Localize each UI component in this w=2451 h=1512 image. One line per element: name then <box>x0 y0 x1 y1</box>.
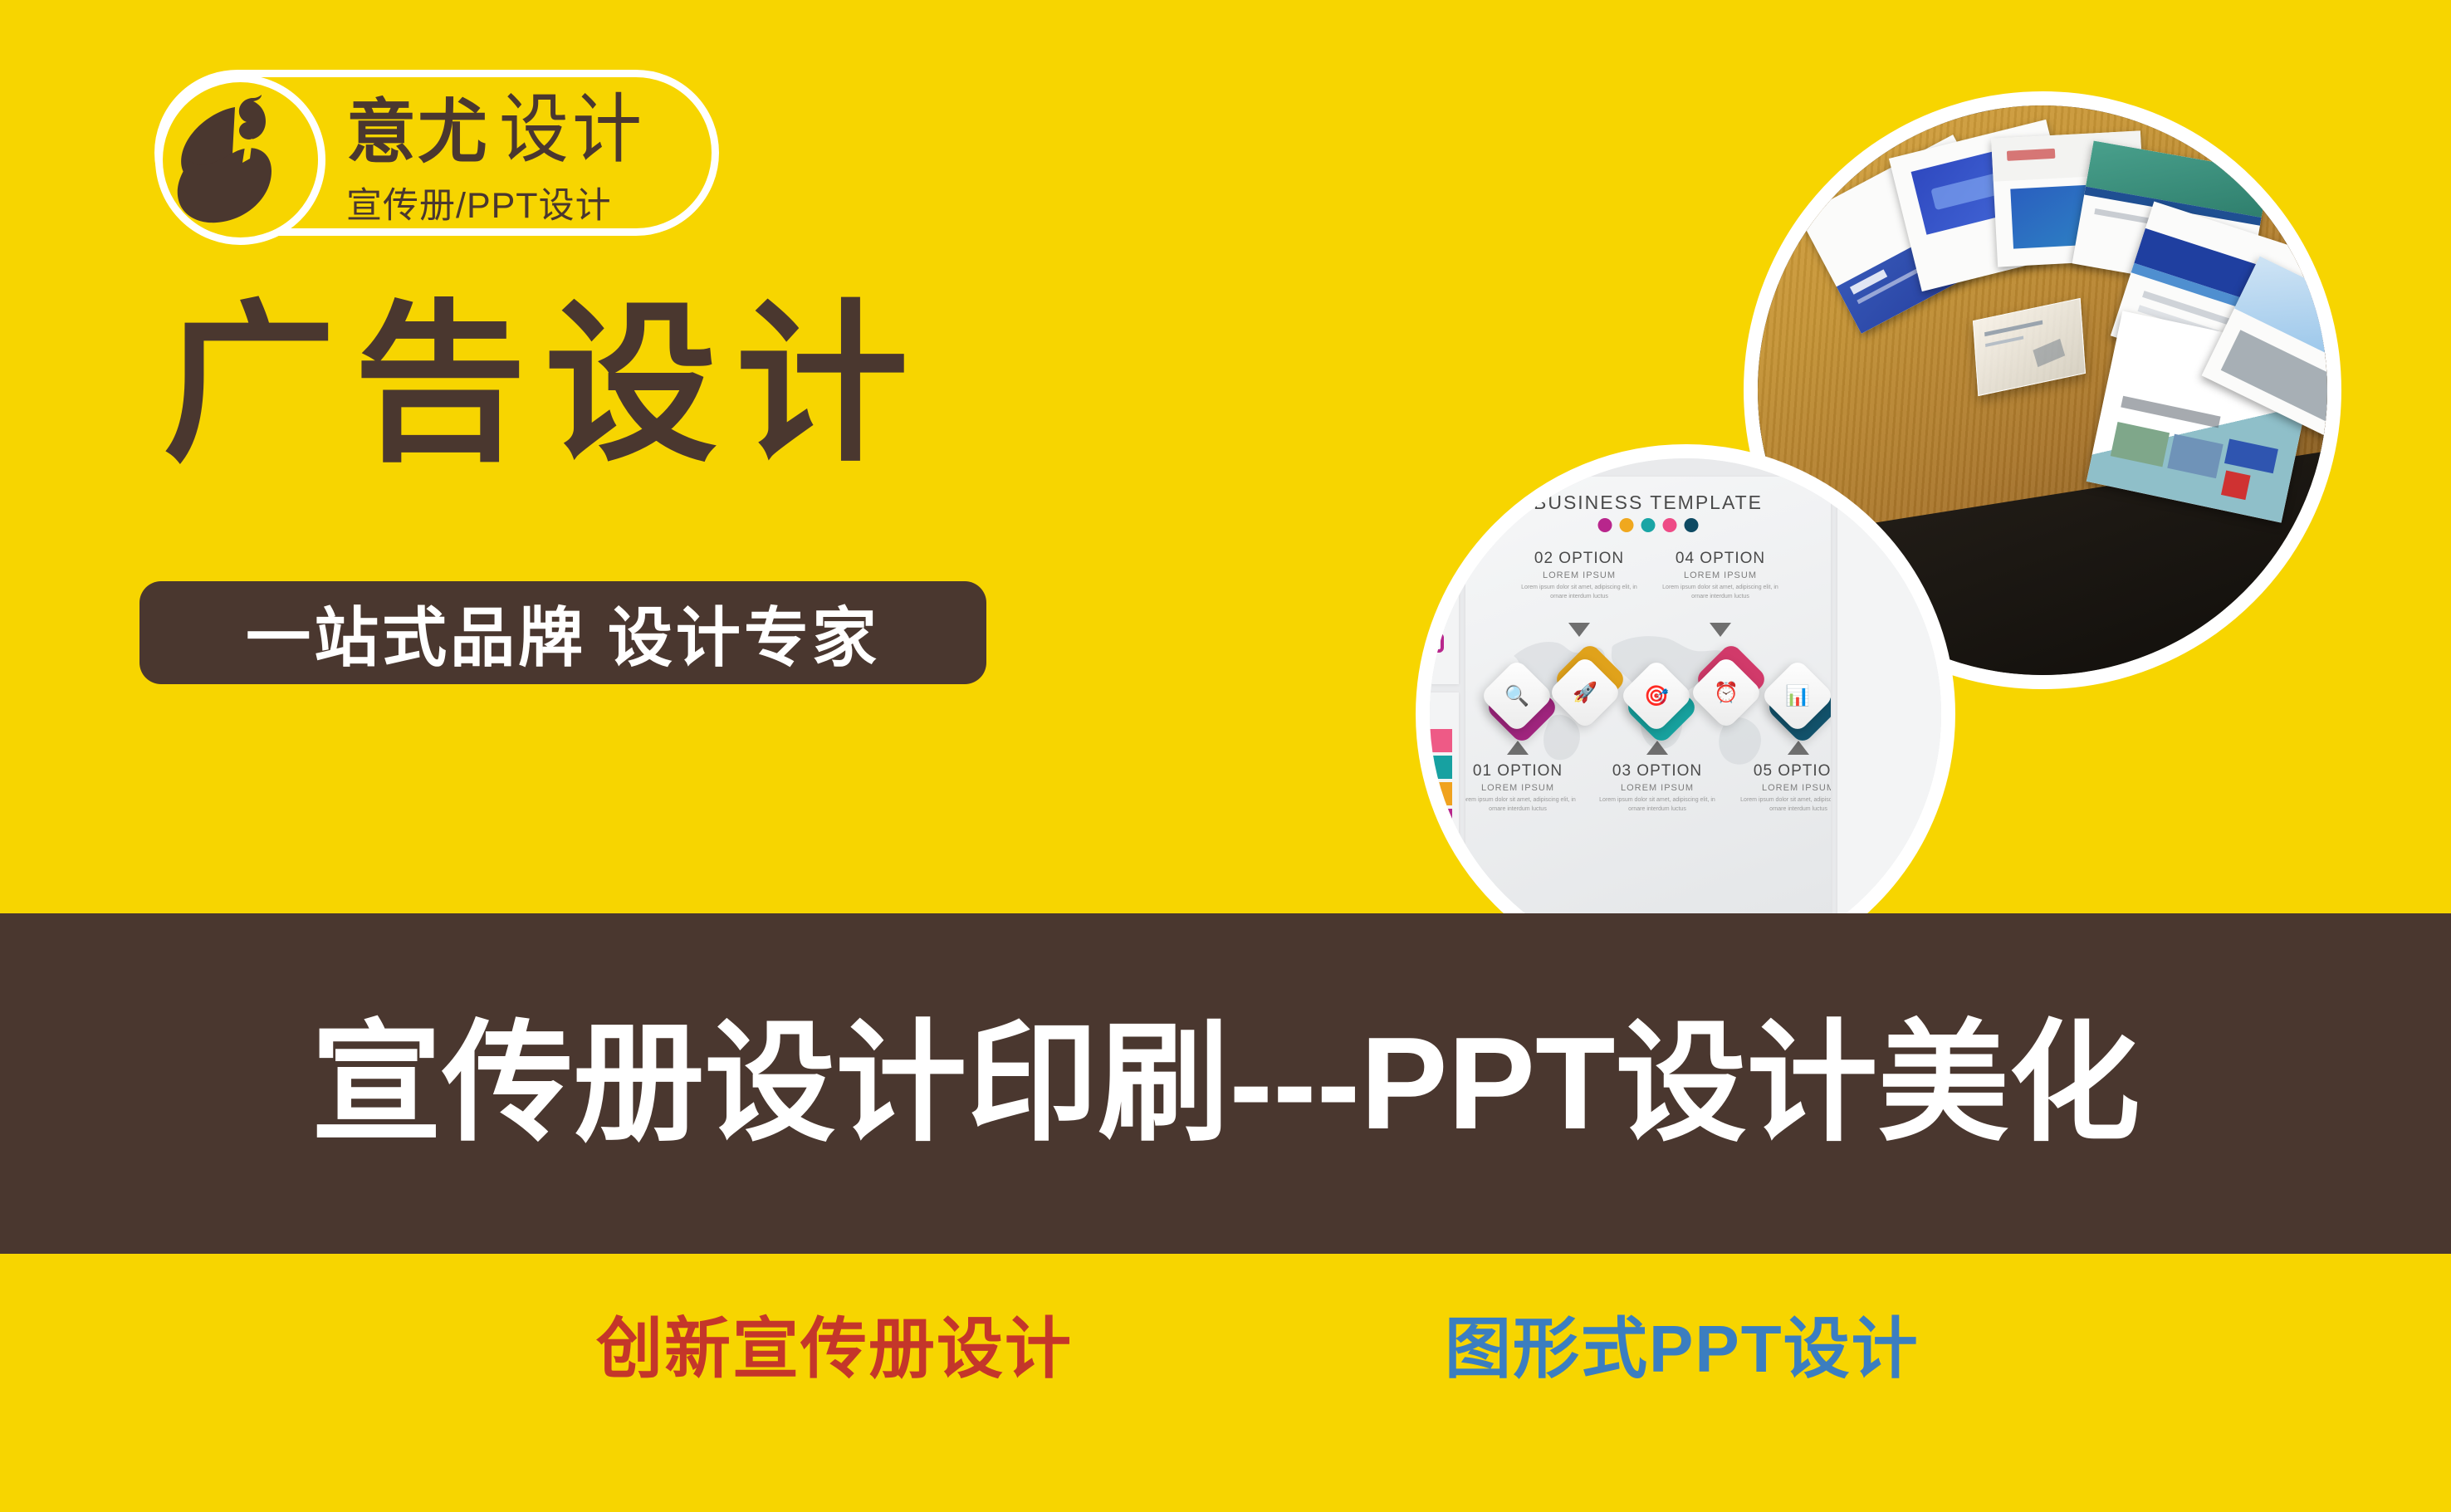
alarm-clock-icon: ⏰ <box>1700 666 1753 719</box>
banner-text: 宣传册设计印刷---PPT设计美化 <box>311 1018 2140 1149</box>
infographic-title: BUSINESS TEMPLATE <box>1534 492 1763 514</box>
infographic-collage-content: Business Template BUSINESS TEMPLATE <box>1430 458 1941 970</box>
rocket-icon: 🚀 <box>1558 666 1612 719</box>
logo-brand-bold: 意尤 <box>346 97 489 167</box>
infographic-collage-circle: Business Template BUSINESS TEMPLATE <box>1416 444 1955 984</box>
logo-brand-light: 设计 <box>499 91 645 167</box>
option-label-01: 01 OPTION LOREM IPSUM Lorem ipsum dolor … <box>1465 762 1580 814</box>
thumb-funnel-chart: Business Template <box>1416 692 1459 859</box>
chart-icon: 📊 <box>1771 669 1824 722</box>
tag-ppt-design: 图形式PPT设计 <box>1445 1295 1920 1392</box>
thumb-banner-rows <box>1416 444 1459 510</box>
option-label-02: 02 OPTION LOREM IPSUM Lorem ipsum dolor … <box>1517 550 1641 601</box>
tag-brochure-design: 创新宣传册设计 <box>596 1295 1073 1392</box>
pointer-down-04 <box>1710 623 1731 637</box>
pointer-up-01 <box>1507 741 1529 755</box>
tagline-text: 一站式品牌 设计专家 <box>246 586 880 679</box>
tagline-pill: 一站式品牌 设计专家 <box>139 581 986 684</box>
option-label-04: 04 OPTION LOREM IPSUM Lorem ipsum dolor … <box>1658 550 1783 601</box>
infographic-color-dots <box>1598 518 1699 532</box>
option-label-05: 05 OPTION LOREM IPSUM Lorem ipsum dolor … <box>1736 762 1831 814</box>
yiyou-leaf-mark-icon <box>155 75 325 245</box>
thumb-cross-diagram <box>1416 518 1459 684</box>
page-title: 广告设计 <box>163 299 927 472</box>
target-icon: 🎯 <box>1630 669 1683 722</box>
magnifier-icon: 🔍 <box>1490 669 1543 722</box>
brand-logo: 意尤 设计 宣传册/PPT设计 <box>154 70 719 236</box>
logo-subtitle: 宣传册/PPT设计 <box>346 177 612 228</box>
bottom-tag-row: 创新宣传册设计 图形式PPT设计 <box>0 1287 2451 1453</box>
pointer-up-03 <box>1646 741 1668 755</box>
pointer-down-02 <box>1568 623 1590 637</box>
option-label-03: 03 OPTION LOREM IPSUM Lorem ipsum dolor … <box>1595 762 1720 814</box>
main-banner: 宣传册设计印刷---PPT设计美化 <box>0 913 2451 1254</box>
thumb-right-column <box>1837 477 1955 925</box>
leaf-glyph-icon <box>174 91 306 226</box>
pointer-up-05 <box>1788 741 1809 755</box>
logo-brand-line: 意尤 设计 <box>346 87 645 167</box>
infographic-main-panel: BUSINESS TEMPLATE 02 OPTION LOREM IPSUM … <box>1465 477 1831 925</box>
